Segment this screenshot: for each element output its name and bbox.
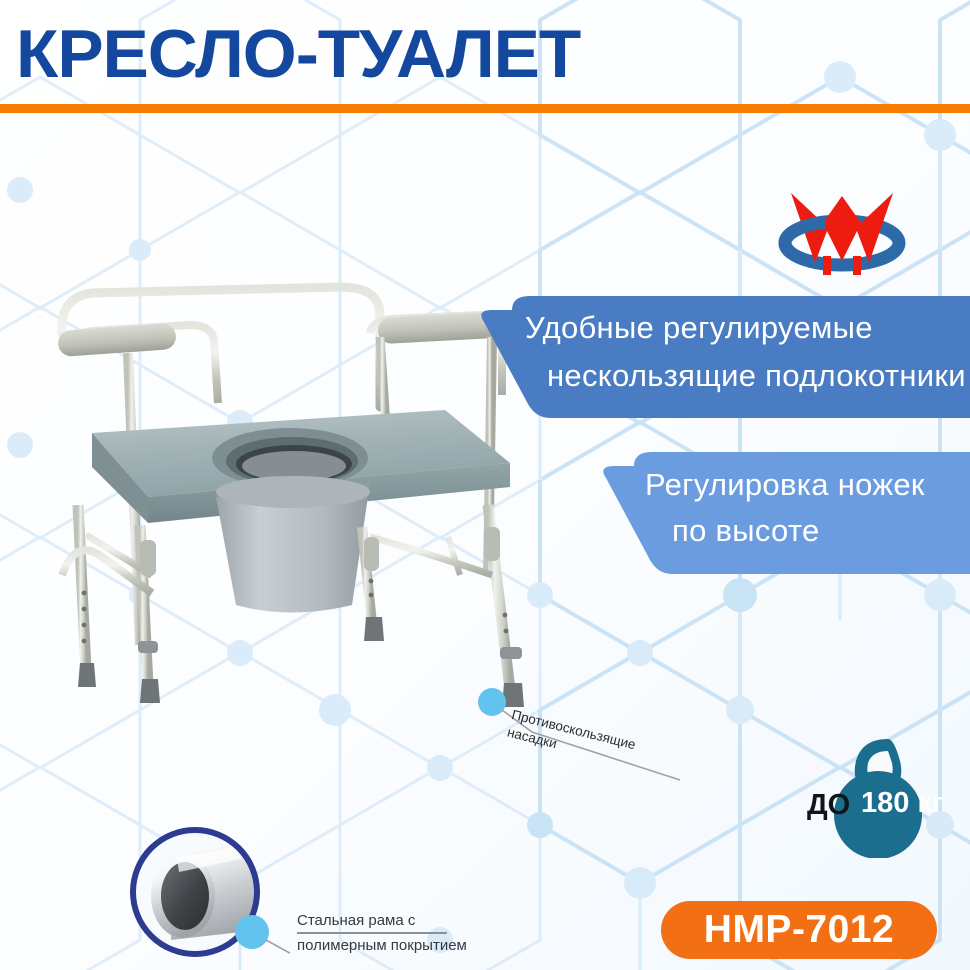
title-underline-rule [0, 104, 970, 113]
page-title: КРЕСЛО-ТУАЛЕТ [16, 16, 580, 92]
tube-connector-dot [235, 915, 269, 949]
tube-caption-line1: Стальная рама с [297, 908, 467, 933]
tube-caption-rule [297, 932, 447, 934]
feature-banner-armrests-line1: Удобные регулируемые [525, 310, 873, 346]
steel-tube-inset-icon [125, 822, 290, 970]
callout-antislip: Противоскользящие насадки [470, 680, 720, 795]
feature-banner-legs-line1: Регулировка ножек [645, 467, 925, 503]
weight-value-label: 180 кг [861, 787, 944, 820]
tube-caption-line2: полимерным покрытием [297, 933, 467, 958]
poster-canvas: КРЕСЛО-ТУАЛЕТ [0, 0, 970, 970]
feature-banner-legs-line2: по высоте [672, 513, 820, 549]
antislip-connector-dot [478, 688, 506, 716]
feature-banner-armrests-line2: нескользящие подлокотники [547, 358, 966, 394]
model-code-label: HMP-7012 [704, 908, 894, 952]
weight-prefix-label: ДО [807, 789, 850, 822]
brand-logo-icon [775, 183, 910, 279]
title-block: КРЕСЛО-ТУАЛЕТ [0, 0, 970, 122]
model-code-badge: HMP-7012 [661, 901, 937, 959]
